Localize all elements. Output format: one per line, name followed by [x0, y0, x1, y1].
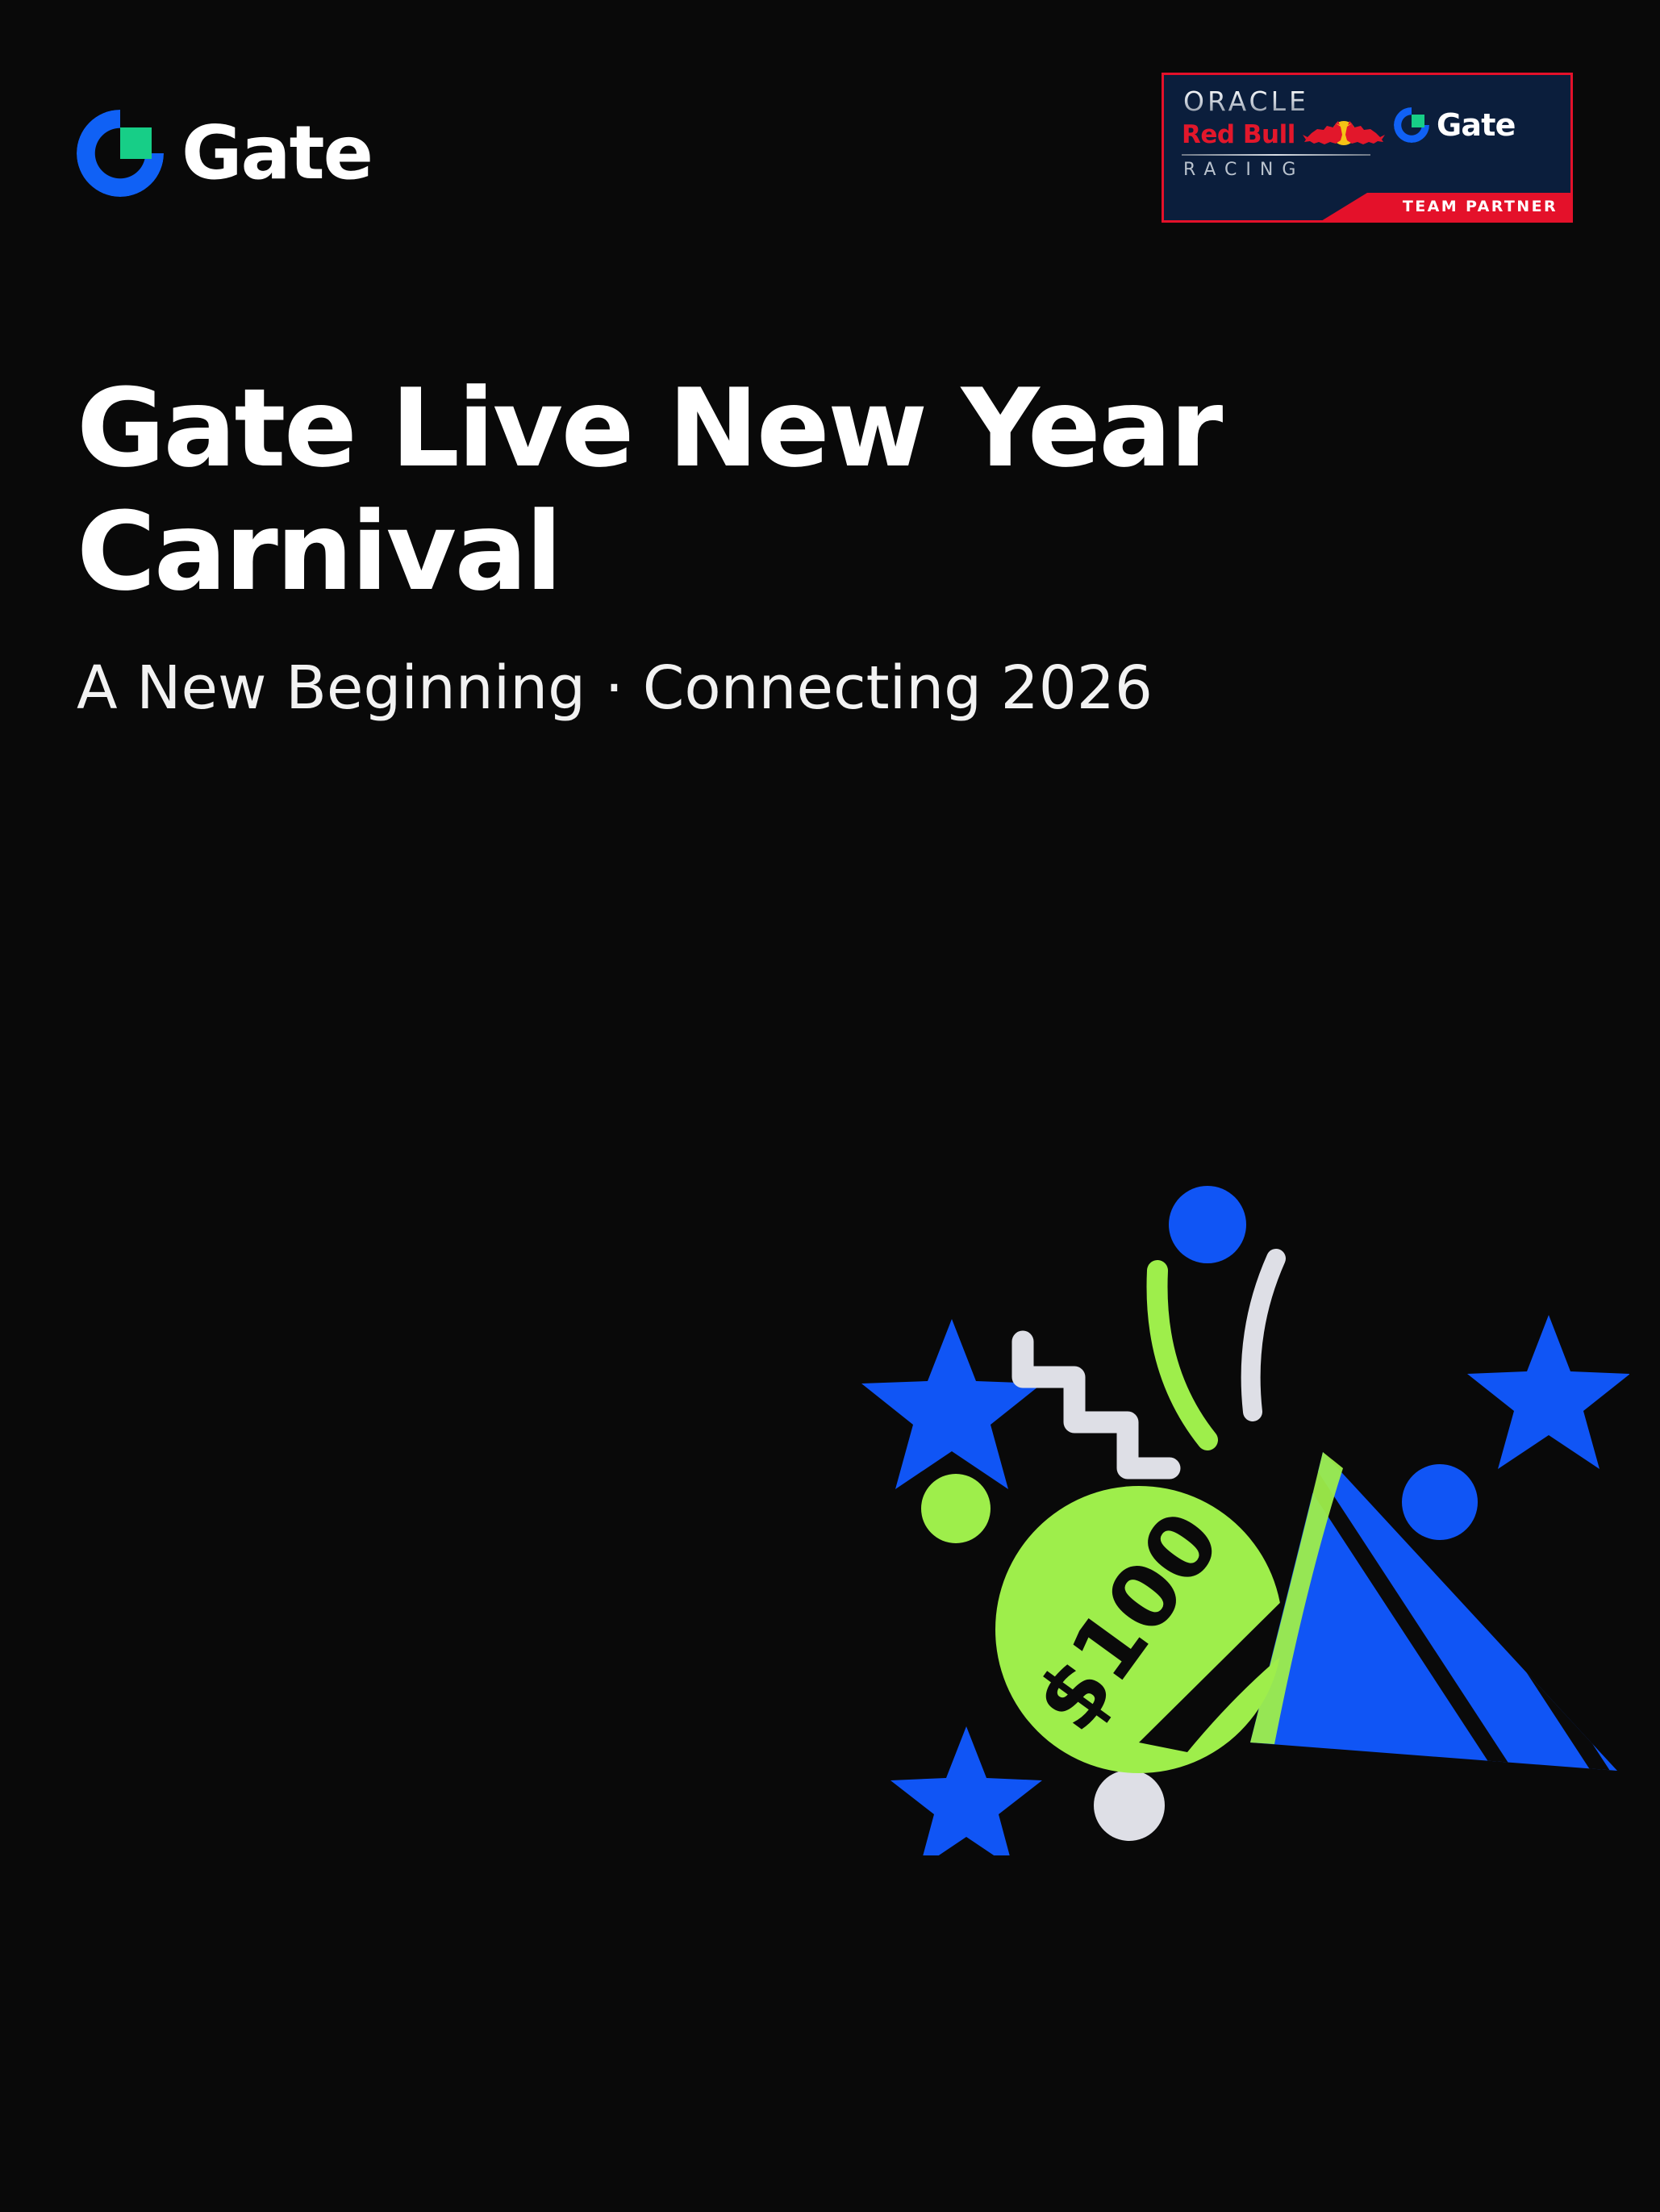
- dot-gray-bottom: [1094, 1770, 1165, 1841]
- hero-section: Gate Live New Year Carnival A New Beginn…: [77, 367, 1367, 724]
- red-bull-charging-bulls-icon: [1300, 119, 1387, 150]
- gate-logo-mark-icon: [1394, 107, 1429, 143]
- gate-logo-mark-icon: [77, 110, 164, 197]
- gate-brand-logo[interactable]: Gate: [77, 110, 372, 197]
- oracle-red-bull-racing-partner-badge[interactable]: ORACLE Red Bull: [1162, 73, 1573, 223]
- streamer-zigzag-white: [1023, 1342, 1170, 1468]
- dot-blue-right: [1402, 1464, 1478, 1540]
- coin-circle: $100: [995, 1486, 1283, 1773]
- oracle-text: ORACLE: [1182, 88, 1374, 115]
- badge-divider: [1182, 154, 1370, 156]
- badge-gate-wordmark: Gate: [1437, 110, 1516, 140]
- team-partner-text: TEAM PARTNER: [1403, 198, 1558, 216]
- badge-gate-logo: Gate: [1394, 107, 1516, 143]
- racing-text: RACING: [1182, 161, 1374, 179]
- page-title: Gate Live New Year Carnival: [77, 367, 1222, 614]
- banner-angle-notch: [1164, 193, 1367, 220]
- page-subtitle: A New Beginning · Connecting 2026: [77, 653, 1367, 724]
- star-bottom-left: [890, 1726, 1042, 1855]
- team-partner-banner: TEAM PARTNER: [1164, 193, 1570, 220]
- star-top-right: [1467, 1315, 1629, 1469]
- gate-wordmark: Gate: [181, 116, 372, 190]
- streamer-arc-lime: [1157, 1271, 1207, 1440]
- streamer-arc-white: [1251, 1258, 1276, 1412]
- red-bull-racing-lockup: ORACLE Red Bull: [1182, 88, 1374, 179]
- party-popper-illustration: $100: [823, 1129, 1629, 1855]
- dot-blue-top: [1169, 1186, 1246, 1263]
- dot-lime-left: [921, 1474, 991, 1543]
- red-bull-text: Red Bull: [1182, 123, 1295, 148]
- page-header: Gate ORACLE Red Bull: [0, 0, 1660, 242]
